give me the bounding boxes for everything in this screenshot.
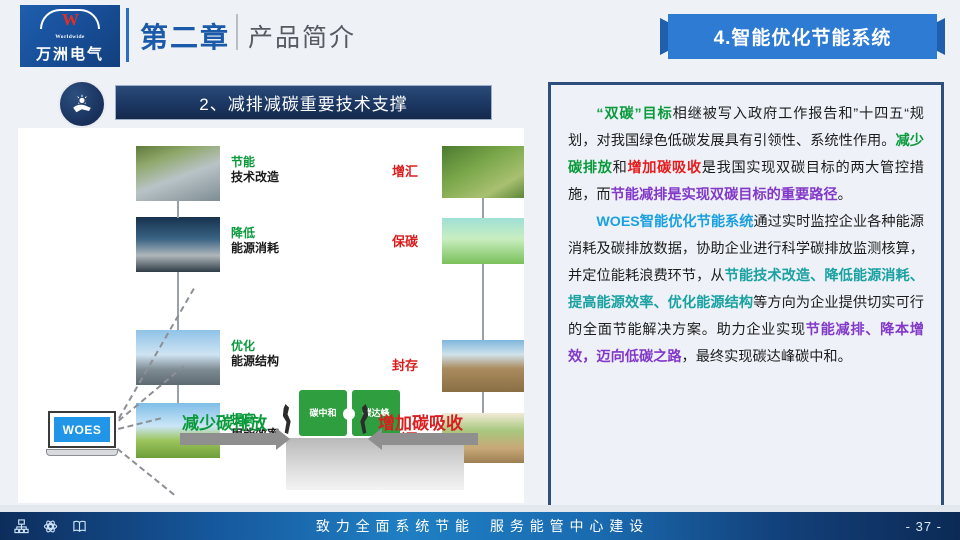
woes-node: WOES xyxy=(46,411,118,461)
diagram-label-left-0: 节能 技术改造 xyxy=(231,155,279,185)
diagram-label-right-0: 增汇 xyxy=(392,164,418,179)
puzzle-piece-carbon-neutral: 碳中和 xyxy=(299,390,347,436)
flow-label-increase-absorption: 增加碳吸收 xyxy=(378,409,463,434)
diagram-label-left-2: 优化 能源结构 xyxy=(231,339,279,369)
diagram-label-left-1: 降低 能源消耗 xyxy=(231,226,279,256)
connector-left-vertical xyxy=(177,201,179,218)
flow-label-reduce-emissions: 减少碳排放 xyxy=(182,409,267,434)
hl-woes-system: WOES智能优化节能系统 xyxy=(596,214,753,230)
hand-energy-icon xyxy=(58,80,106,128)
hl-dual-carbon-goal: “双碳”目标 xyxy=(596,106,672,122)
chapter-title: 第二章 xyxy=(140,16,230,56)
diagram-image-wind-solar xyxy=(136,330,220,385)
section-title-text: 2、减排减碳重要技术支撑 xyxy=(199,90,407,115)
logo-emblem-icon: W xyxy=(40,9,100,35)
diagram-panel: 节能 技术改造 降低 能源消耗 优化 能源结构 提高 用能效率 增汇 保碳 封存… xyxy=(18,128,524,503)
p1-and: 和 xyxy=(613,160,628,176)
paragraph-2: WOES智能优化节能系统通过实时监控企业各种能源消耗及碳排放数据，协助企业进行科… xyxy=(568,209,924,371)
description-card: “双碳”目标相继被写入政府工作报告和”十四五“规划，对我国绿色低碳发展具有引领性… xyxy=(548,82,944,512)
title-divider-blue xyxy=(126,8,129,62)
footer-bar: 致 力 全 面 系 统 节 能 服 务 能 管 中 心 建 设 - 37 - xyxy=(0,512,960,540)
diagram-image-carbon-storage xyxy=(442,340,524,392)
laptop-base xyxy=(46,449,118,456)
slide-root: W Worldwide 万洲电气 第二章 产品简介 4.智能优化节能系统 2、减… xyxy=(0,0,960,540)
arrow-reduce-emissions xyxy=(180,433,276,445)
banner-label: 4.智能优化节能系统 xyxy=(660,14,945,59)
logo-company-name: 万洲电气 xyxy=(36,43,104,64)
logo-letter: W xyxy=(40,11,100,29)
diagram-image-power-plant xyxy=(136,217,220,272)
woes-screen: WOES xyxy=(48,411,116,448)
diagram-image-industrial-pipes xyxy=(136,146,220,201)
p1-period: 。 xyxy=(838,187,852,203)
page-subtitle: 产品简介 xyxy=(248,18,356,54)
connector-right-vertical-2 xyxy=(482,264,484,340)
section-title-bar: 2、减排减碳重要技术支撑 xyxy=(115,85,492,120)
footer-slogan: 致 力 全 面 系 统 节 能 服 务 能 管 中 心 建 设 xyxy=(0,516,960,536)
diagram-label-right-1: 保碳 xyxy=(392,234,418,249)
paragraph-1: “双碳”目标相继被写入政府工作报告和”十四五“规划，对我国绿色低碳发展具有引领性… xyxy=(568,101,924,209)
page-number: - 37 - xyxy=(906,519,942,534)
hl-increase-absorption: 增加碳吸收 xyxy=(627,160,701,176)
woes-label: WOES xyxy=(54,417,110,442)
connector-right-vertical xyxy=(482,198,484,218)
arrow-increase-absorption xyxy=(382,433,478,445)
footer-top-strip xyxy=(0,505,960,512)
diagram-image-forest xyxy=(442,146,524,198)
topic-banner: 4.智能优化节能系统 xyxy=(660,14,945,59)
hl-key-path: 节能减排是实现双碳目标的重要路径 xyxy=(611,187,838,203)
company-logo: W Worldwide 万洲电气 xyxy=(20,5,120,67)
diagram-image-green-earth xyxy=(442,218,524,264)
connector-right-vertical-3 xyxy=(482,392,484,413)
connector-left-vertical-3 xyxy=(177,385,179,403)
connector-left-vertical-2 xyxy=(177,272,179,330)
diagram-label-right-2: 封存 xyxy=(392,358,418,373)
title-divider-gray xyxy=(236,14,238,50)
puzzle-knob xyxy=(343,408,355,420)
p2-body-3: ，最终实现碳达峰碳中和。 xyxy=(682,349,852,365)
